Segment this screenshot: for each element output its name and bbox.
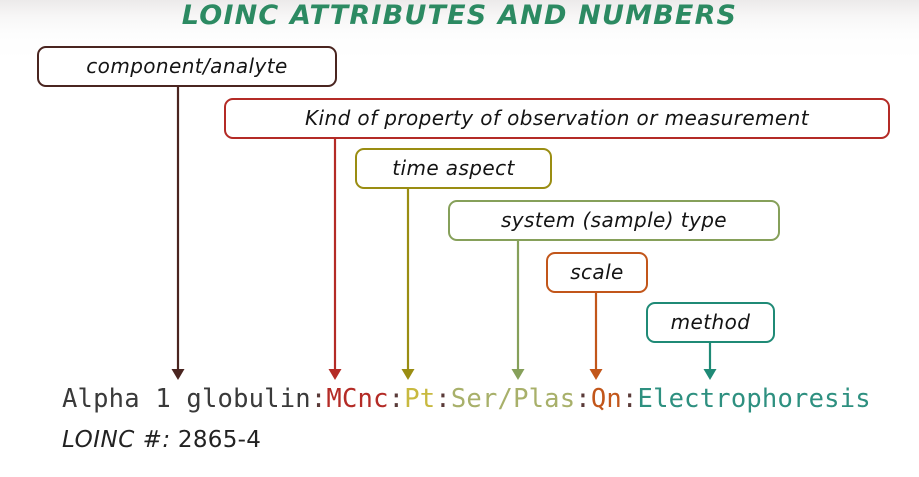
code-part-property: MCnc [326,384,388,414]
node-time-aspect-label: time aspect [392,158,514,178]
code-part-system: Ser/Plas [451,384,575,414]
arrowhead-component [172,369,185,380]
code-part-time: Pt [404,384,435,414]
loinc-number-label: LOINC #: [62,427,171,453]
page-title: LOINC ATTRIBUTES AND NUMBERS [0,0,919,31]
arrowhead-property [329,369,342,380]
code-part-component: Alpha 1 globulin [62,384,311,414]
node-system-sample-type[interactable]: system (sample) type [448,200,780,241]
connector-system [512,241,525,380]
code-separator: : [622,384,638,414]
node-method-label: method [671,312,751,332]
connector-property [329,139,342,380]
loinc-code-string: Alpha 1 globulin:MCnc:Pt:Ser/Plas:Qn:Ele… [62,384,871,414]
code-separator: : [575,384,591,414]
node-component-analyte[interactable]: component/analyte [37,46,337,87]
diagram-canvas: LOINC ATTRIBUTES AND NUMBERS component/a… [0,0,919,477]
node-component-analyte-label: component/analyte [86,56,287,76]
code-part-scale: Qn [591,384,622,414]
code-separator: : [389,384,405,414]
connector-method [704,343,717,380]
loinc-number-value: 2865-4 [178,427,261,453]
connector-scale [590,293,603,380]
node-scale-label: scale [570,262,624,282]
code-part-method: Electrophoresis [638,384,871,414]
node-method[interactable]: method [646,302,775,343]
code-separator: : [311,384,327,414]
node-kind-of-property-label: Kind of property of observation or measu… [305,108,809,128]
code-separator: : [435,384,451,414]
arrowhead-method [704,369,717,380]
node-time-aspect[interactable]: time aspect [355,148,552,189]
arrowhead-time [402,369,415,380]
arrowhead-system [512,369,525,380]
node-scale[interactable]: scale [546,252,648,293]
arrowhead-scale [590,369,603,380]
node-kind-of-property[interactable]: Kind of property of observation or measu… [224,98,890,139]
connector-component [172,87,185,380]
loinc-number-line: LOINC #: 2865-4 [62,427,261,453]
node-system-sample-type-label: system (sample) type [501,210,727,230]
connector-time [402,189,415,380]
